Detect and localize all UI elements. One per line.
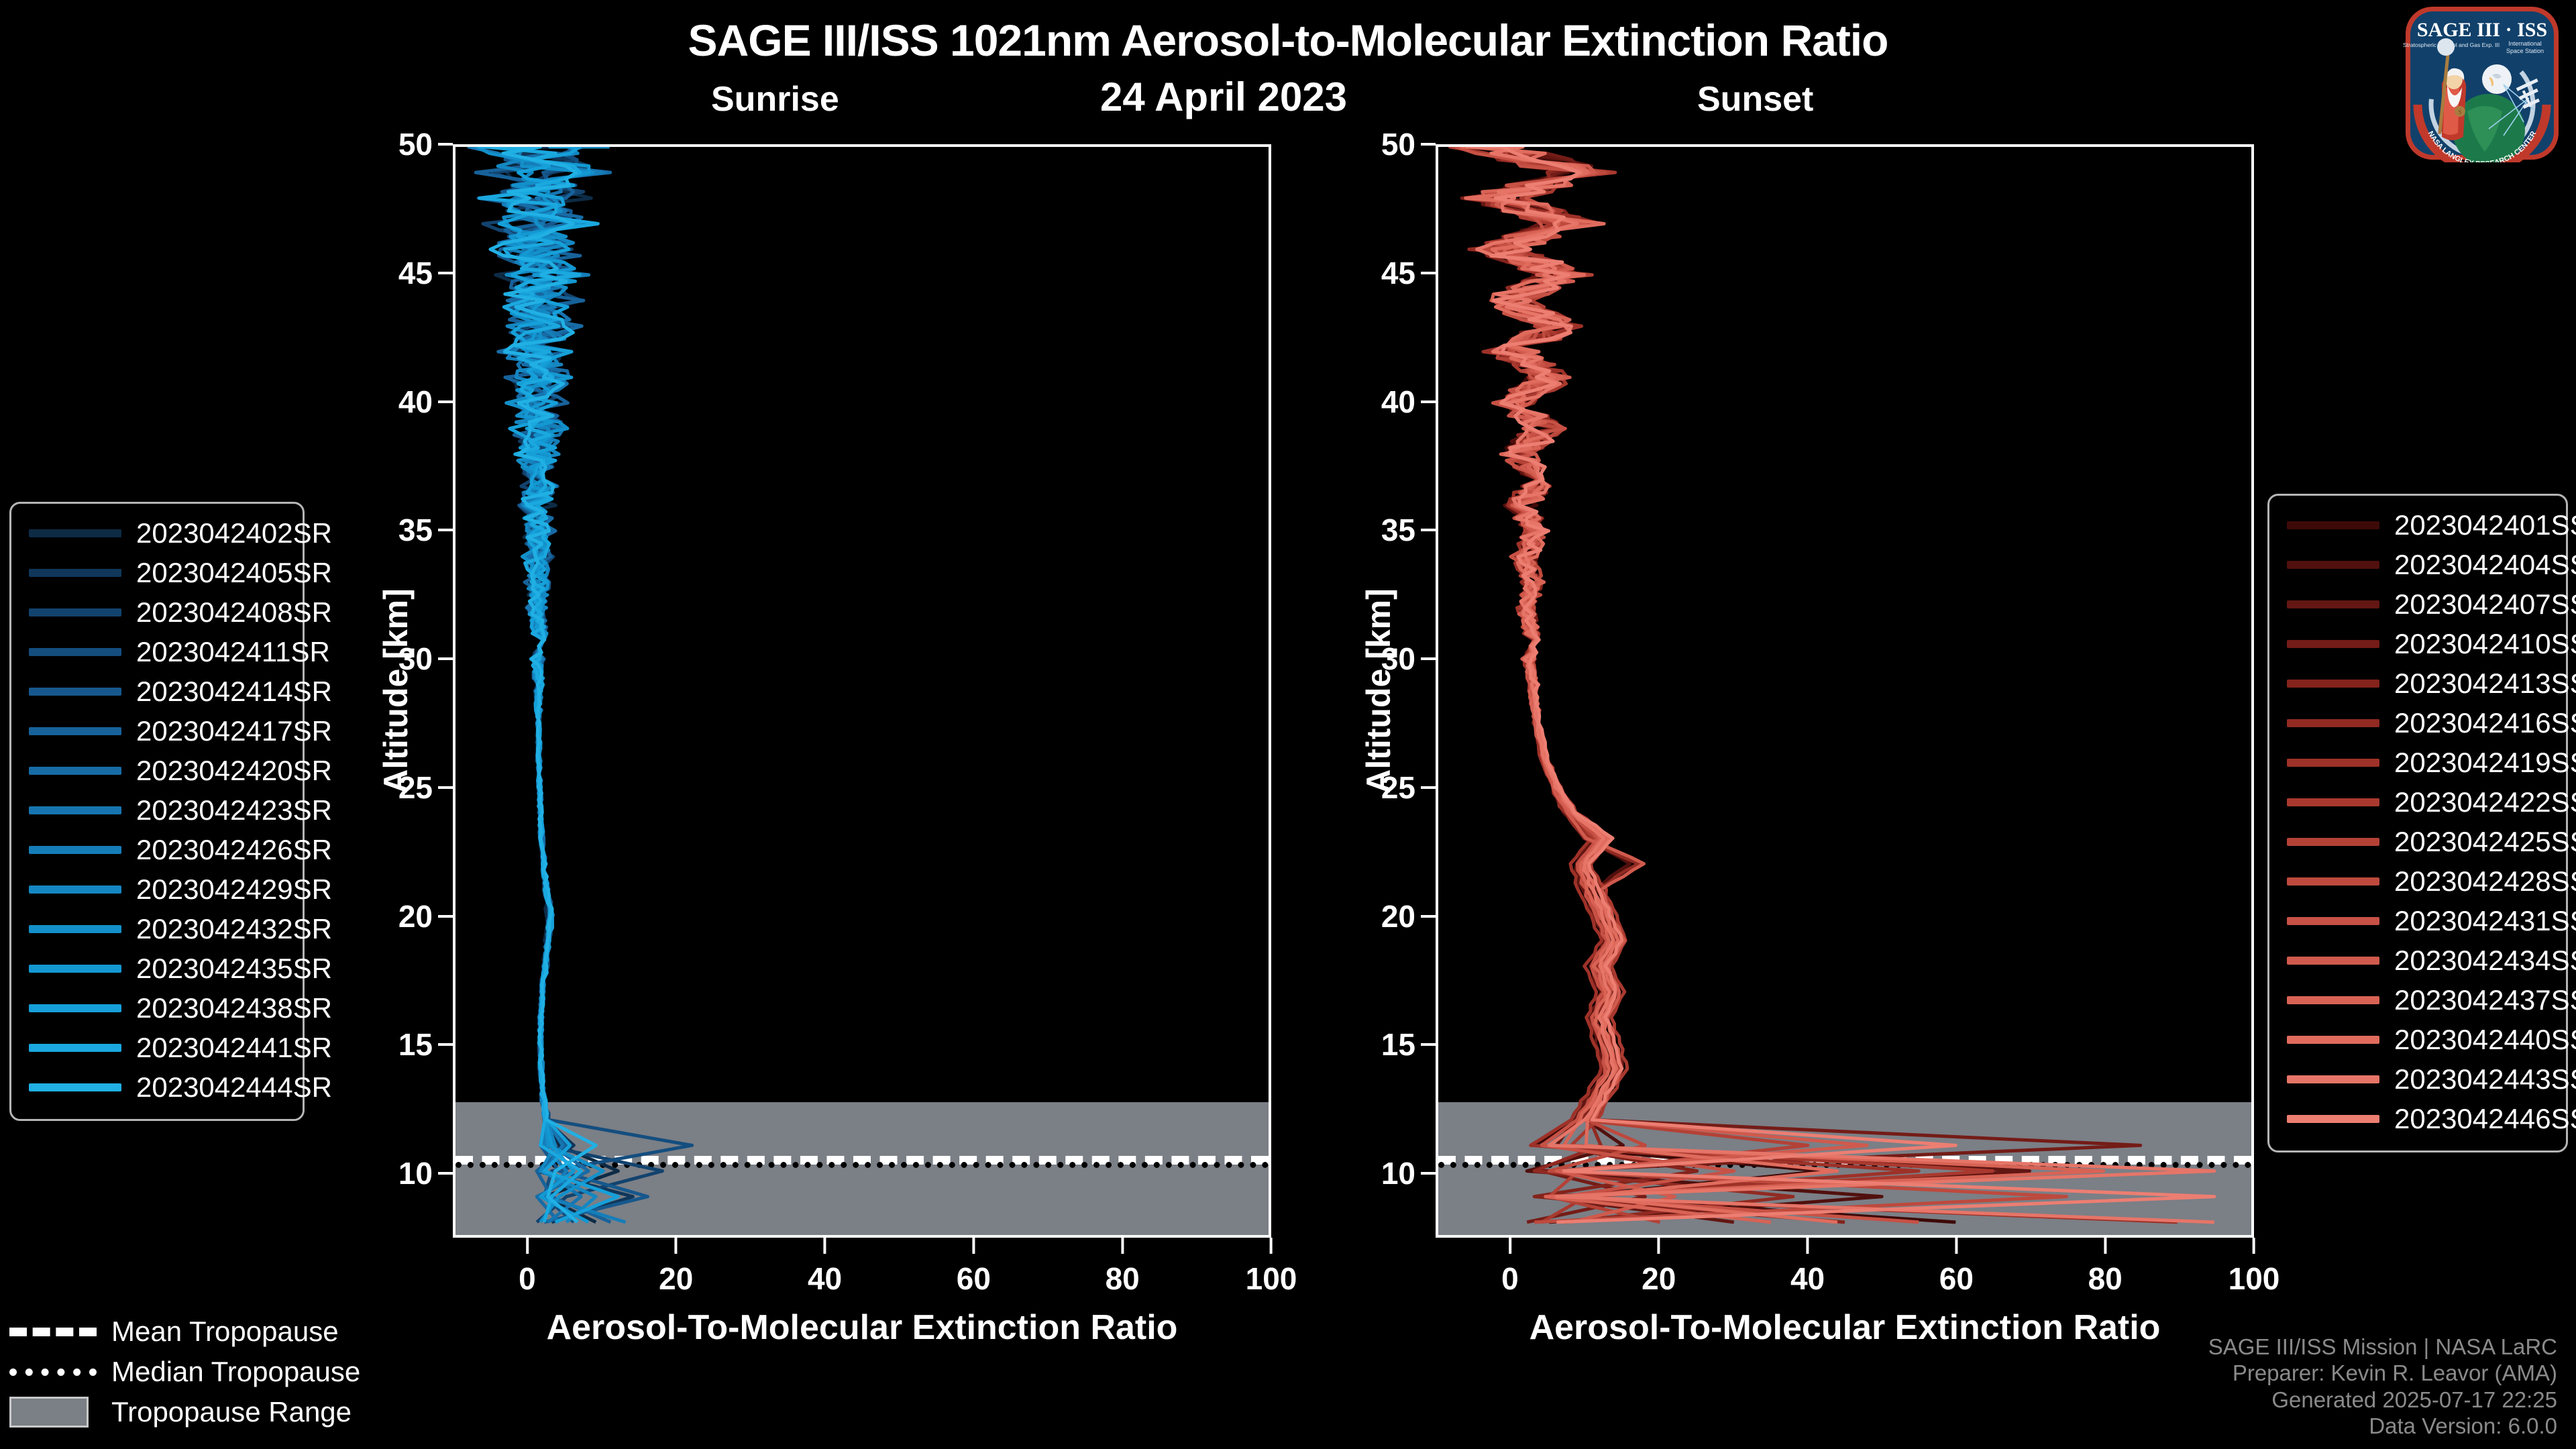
sunrise-legend-item[interactable]: 2023042405SR — [29, 553, 285, 592]
legend-color-swatch — [2287, 957, 2379, 965]
legend-color-swatch — [2287, 521, 2379, 529]
profile-line — [1499, 147, 1882, 1222]
sunset-legend-item[interactable]: 2023042401SS — [2287, 505, 2548, 545]
legend-color-swatch — [29, 806, 121, 814]
legend-tropopause: Mean Tropopause Median Tropopause Tropop… — [9, 1311, 385, 1432]
legend-event-label: 2023042408SR — [136, 596, 332, 629]
legend-color-swatch — [29, 1004, 121, 1012]
x-tick-100: 100 — [1246, 1238, 1297, 1297]
credit-mission: SAGE III/ISS Mission | NASA LaRC — [2208, 1334, 2557, 1360]
profile-line — [1474, 147, 2214, 1222]
sunrise-legend-item[interactable]: 2023042441SR — [29, 1028, 285, 1067]
y-tick-40: 40 — [1381, 384, 1436, 420]
sunset-label: Sunset — [1697, 79, 1813, 119]
sunrise-legend-item[interactable]: 2023042408SR — [29, 592, 285, 632]
x-axis-label-sunrise: Aerosol-To-Molecular Extinction Ratio — [453, 1307, 1271, 1348]
x-tick-80: 80 — [2088, 1238, 2123, 1297]
legend-event-label: 2023042413SS — [2394, 667, 2576, 700]
profile-line — [1478, 147, 2066, 1222]
legend-event-label: 2023042428SS — [2394, 865, 2576, 898]
sunset-legend-item[interactable]: 2023042446SS — [2287, 1099, 2548, 1138]
dotted-line-icon — [9, 1362, 97, 1382]
sunset-legend-item[interactable]: 2023042434SS — [2287, 941, 2548, 980]
sunset-legend-item[interactable]: 2023042407SS — [2287, 584, 2548, 624]
x-axis-label-sunset: Aerosol-To-Molecular Extinction Ratio — [1436, 1307, 2254, 1348]
legend-color-swatch — [29, 925, 121, 933]
legend-event-label: 2023042410SS — [2394, 628, 2576, 660]
legend-event-label: 2023042417SR — [136, 715, 332, 747]
legend-color-swatch — [2287, 759, 2379, 767]
legend-color-swatch — [29, 1044, 121, 1052]
y-tick-10: 10 — [1381, 1155, 1436, 1191]
y-tick-50: 50 — [1381, 126, 1436, 162]
sunset-legend-item[interactable]: 2023042437SS — [2287, 980, 2548, 1020]
x-tick-0: 0 — [1501, 1238, 1519, 1297]
y-tick-25: 25 — [398, 769, 453, 806]
legend-color-swatch — [29, 727, 121, 735]
x-tick-40: 40 — [1790, 1238, 1825, 1297]
legend-item-median-tropopause: Median Tropopause — [9, 1352, 385, 1392]
y-tick-25: 25 — [1381, 769, 1436, 806]
credits-block: SAGE III/ISS Mission | NASA LaRC Prepare… — [2208, 1334, 2557, 1440]
legend-color-swatch — [29, 529, 121, 537]
sunset-legend-item[interactable]: 2023042425SS — [2287, 822, 2548, 861]
credit-version: Data Version: 6.0.0 — [2208, 1413, 2557, 1440]
sunrise-legend-item[interactable]: 2023042426SR — [29, 830, 285, 869]
profile-lines-sunrise — [455, 147, 1269, 1235]
y-tick-15: 15 — [398, 1026, 453, 1063]
y-tick-35: 35 — [398, 512, 453, 548]
legend-event-label: 2023042443SS — [2394, 1063, 2576, 1095]
y-tick-45: 45 — [1381, 255, 1436, 291]
legend-event-label: 2023042435SR — [136, 953, 332, 985]
y-tick-35: 35 — [1381, 512, 1436, 548]
legend-event-label: 2023042402SR — [136, 517, 332, 549]
legend-color-swatch — [2287, 917, 2379, 925]
profile-line — [1482, 147, 2029, 1222]
sunrise-legend-item[interactable]: 2023042432SR — [29, 909, 285, 949]
legend-event-label: 2023042416SS — [2394, 707, 2576, 739]
svg-text:Space Station: Space Station — [2506, 48, 2544, 54]
legend-color-swatch — [2287, 600, 2379, 608]
legend-color-swatch — [2287, 1115, 2379, 1123]
legend-color-swatch — [2287, 1075, 2379, 1083]
sunrise-label: Sunrise — [711, 79, 839, 119]
y-tick-50: 50 — [398, 126, 453, 162]
legend-color-swatch — [2287, 719, 2379, 727]
legend-sunset-events[interactable]: 2023042401SS2023042404SS2023042407SS2023… — [2267, 494, 2568, 1152]
y-tick-40: 40 — [398, 384, 453, 420]
legend-color-swatch — [29, 885, 121, 894]
sunrise-legend-item[interactable]: 2023042423SR — [29, 790, 285, 830]
sunset-legend-item[interactable]: 2023042440SS — [2287, 1020, 2548, 1059]
sunrise-legend-item[interactable]: 2023042414SR — [29, 672, 285, 711]
legend-color-swatch — [2287, 838, 2379, 846]
sunrise-legend-item[interactable]: 2023042411SR — [29, 632, 285, 672]
legend-event-label: 2023042440SS — [2394, 1024, 2576, 1056]
y-axis-label-sunrise: Altitude [km] — [376, 588, 415, 794]
sage-iii-iss-logo: SAGE III · ISS Stratospheric Aerosol and… — [2403, 4, 2561, 162]
sunrise-legend-item[interactable]: 2023042417SR — [29, 711, 285, 751]
sunset-legend-item[interactable]: 2023042428SS — [2287, 861, 2548, 901]
legend-color-swatch — [29, 767, 121, 775]
legend-color-swatch — [2287, 680, 2379, 688]
sunset-legend-item[interactable]: 2023042413SS — [2287, 663, 2548, 703]
legend-item-tropopause-range: Tropopause Range — [9, 1392, 385, 1432]
x-tick-60: 60 — [957, 1238, 991, 1297]
profile-line — [1467, 147, 2178, 1222]
legend-event-label: 2023042404SS — [2394, 549, 2576, 581]
legend-color-swatch — [29, 965, 121, 973]
y-tick-10: 10 — [398, 1155, 453, 1191]
legend-event-label: 2023042401SS — [2394, 509, 2576, 541]
svg-text:International: International — [2508, 40, 2542, 47]
legend-event-label: 2023042437SS — [2394, 984, 2576, 1016]
legend-label-mean: Mean Tropopause — [111, 1316, 339, 1348]
legend-color-swatch — [2287, 561, 2379, 569]
legend-color-swatch — [2287, 640, 2379, 648]
legend-color-swatch — [2287, 798, 2379, 806]
sunrise-legend-item[interactable]: 2023042444SR — [29, 1067, 285, 1107]
y-tick-30: 30 — [1381, 641, 1436, 677]
legend-event-label: 2023042419SS — [2394, 747, 2576, 779]
page-title: SAGE III/ISS 1021nm Aerosol-to-Molecular… — [0, 15, 2576, 66]
legend-color-swatch — [29, 648, 121, 656]
sunrise-legend-item[interactable]: 2023042435SR — [29, 949, 285, 988]
legend-event-label: 2023042446SS — [2394, 1103, 2576, 1135]
plot-area-sunrise — [455, 147, 1269, 1235]
sunset-legend-item[interactable]: 2023042410SS — [2287, 624, 2548, 663]
legend-color-swatch — [29, 608, 121, 616]
svg-text:SAGE III · ISS: SAGE III · ISS — [2417, 19, 2547, 41]
profile-line — [472, 147, 648, 1222]
legend-event-label: 2023042405SR — [136, 557, 332, 589]
legend-color-swatch — [2287, 996, 2379, 1004]
legend-sunrise-events[interactable]: 2023042402SR2023042405SR2023042408SR2023… — [9, 502, 305, 1121]
legend-event-label: 2023042432SR — [136, 913, 332, 945]
legend-event-label: 2023042420SR — [136, 755, 332, 787]
legend-event-label: 2023042438SR — [136, 992, 332, 1024]
y-tick-20: 20 — [1381, 898, 1436, 934]
x-tick-100: 100 — [2229, 1238, 2280, 1297]
legend-event-label: 2023042422SS — [2394, 786, 2576, 818]
legend-event-label: 2023042434SS — [2394, 945, 2576, 977]
legend-color-swatch — [29, 569, 121, 577]
legend-item-mean-tropopause: Mean Tropopause — [9, 1311, 385, 1352]
profile-lines-sunset — [1438, 147, 2251, 1235]
legend-color-swatch — [29, 688, 121, 696]
y-tick-15: 15 — [1381, 1026, 1436, 1063]
legend-event-label: 2023042441SR — [136, 1032, 332, 1064]
legend-event-label: 2023042411SR — [136, 636, 330, 668]
legend-event-label: 2023042426SR — [136, 834, 332, 866]
legend-event-label: 2023042444SR — [136, 1071, 332, 1104]
dashed-line-icon — [9, 1322, 97, 1342]
legend-color-swatch — [2287, 1036, 2379, 1044]
x-tick-20: 20 — [659, 1238, 693, 1297]
profile-line — [1462, 147, 2141, 1222]
legend-color-swatch — [2287, 877, 2379, 885]
plot-area-sunset — [1438, 147, 2251, 1235]
sunrise-legend-item[interactable]: 2023042420SR — [29, 751, 285, 790]
credit-preparer: Preparer: Kevin R. Leavor (AMA) — [2208, 1360, 2557, 1387]
sunrise-legend-item[interactable]: 2023042402SR — [29, 513, 285, 553]
legend-event-label: 2023042431SS — [2394, 905, 2576, 937]
x-tick-80: 80 — [1106, 1238, 1140, 1297]
credit-generated: Generated 2025-07-17 22:25 — [2208, 1387, 2557, 1413]
sunset-legend-item[interactable]: 2023042443SS — [2287, 1059, 2548, 1099]
profile-line — [472, 147, 626, 1222]
sunset-legend-item[interactable]: 2023042431SS — [2287, 901, 2548, 941]
legend-event-label: 2023042429SR — [136, 873, 332, 906]
legend-label-median: Median Tropopause — [111, 1356, 360, 1388]
x-tick-20: 20 — [1642, 1238, 1676, 1297]
sunset-legend-item[interactable]: 2023042416SS — [2287, 703, 2548, 743]
legend-color-swatch — [29, 846, 121, 854]
y-tick-45: 45 — [398, 255, 453, 291]
svg-text:S: S — [2458, 109, 2461, 115]
legend-event-label: 2023042425SS — [2394, 826, 2576, 858]
legend-label-range: Tropopause Range — [111, 1396, 352, 1428]
y-axis-label-sunset: Altitude [km] — [1359, 588, 1398, 794]
x-tick-0: 0 — [519, 1238, 536, 1297]
subtitle-row: Sunrise 24 April 2023 Sunset — [0, 79, 2576, 126]
y-tick-30: 30 — [398, 641, 453, 677]
legend-event-label: 2023042423SR — [136, 794, 332, 826]
date-label: 24 April 2023 — [1100, 74, 1347, 120]
x-tick-60: 60 — [1939, 1238, 1974, 1297]
y-tick-20: 20 — [398, 898, 453, 934]
sunset-plot-panel: Altitude [km] 101520253035404550 0204060… — [1436, 144, 2254, 1238]
sunset-legend-item[interactable]: 2023042422SS — [2287, 782, 2548, 822]
sunset-legend-item[interactable]: 2023042404SS — [2287, 545, 2548, 584]
sunrise-plot-panel: Altitude [km] 101520253035404550 0204060… — [453, 144, 1271, 1238]
legend-event-label: 2023042414SR — [136, 676, 332, 708]
legend-event-label: 2023042407SS — [2394, 588, 2576, 621]
sunrise-legend-item[interactable]: 2023042429SR — [29, 869, 285, 909]
profile-line — [1461, 147, 2104, 1222]
profile-line — [1466, 147, 2214, 1222]
sunrise-legend-item[interactable]: 2023042438SR — [29, 988, 285, 1028]
legend-color-swatch — [29, 1083, 121, 1091]
x-tick-40: 40 — [808, 1238, 842, 1297]
sunset-legend-item[interactable]: 2023042419SS — [2287, 743, 2548, 782]
grey-swatch-icon — [9, 1402, 97, 1422]
